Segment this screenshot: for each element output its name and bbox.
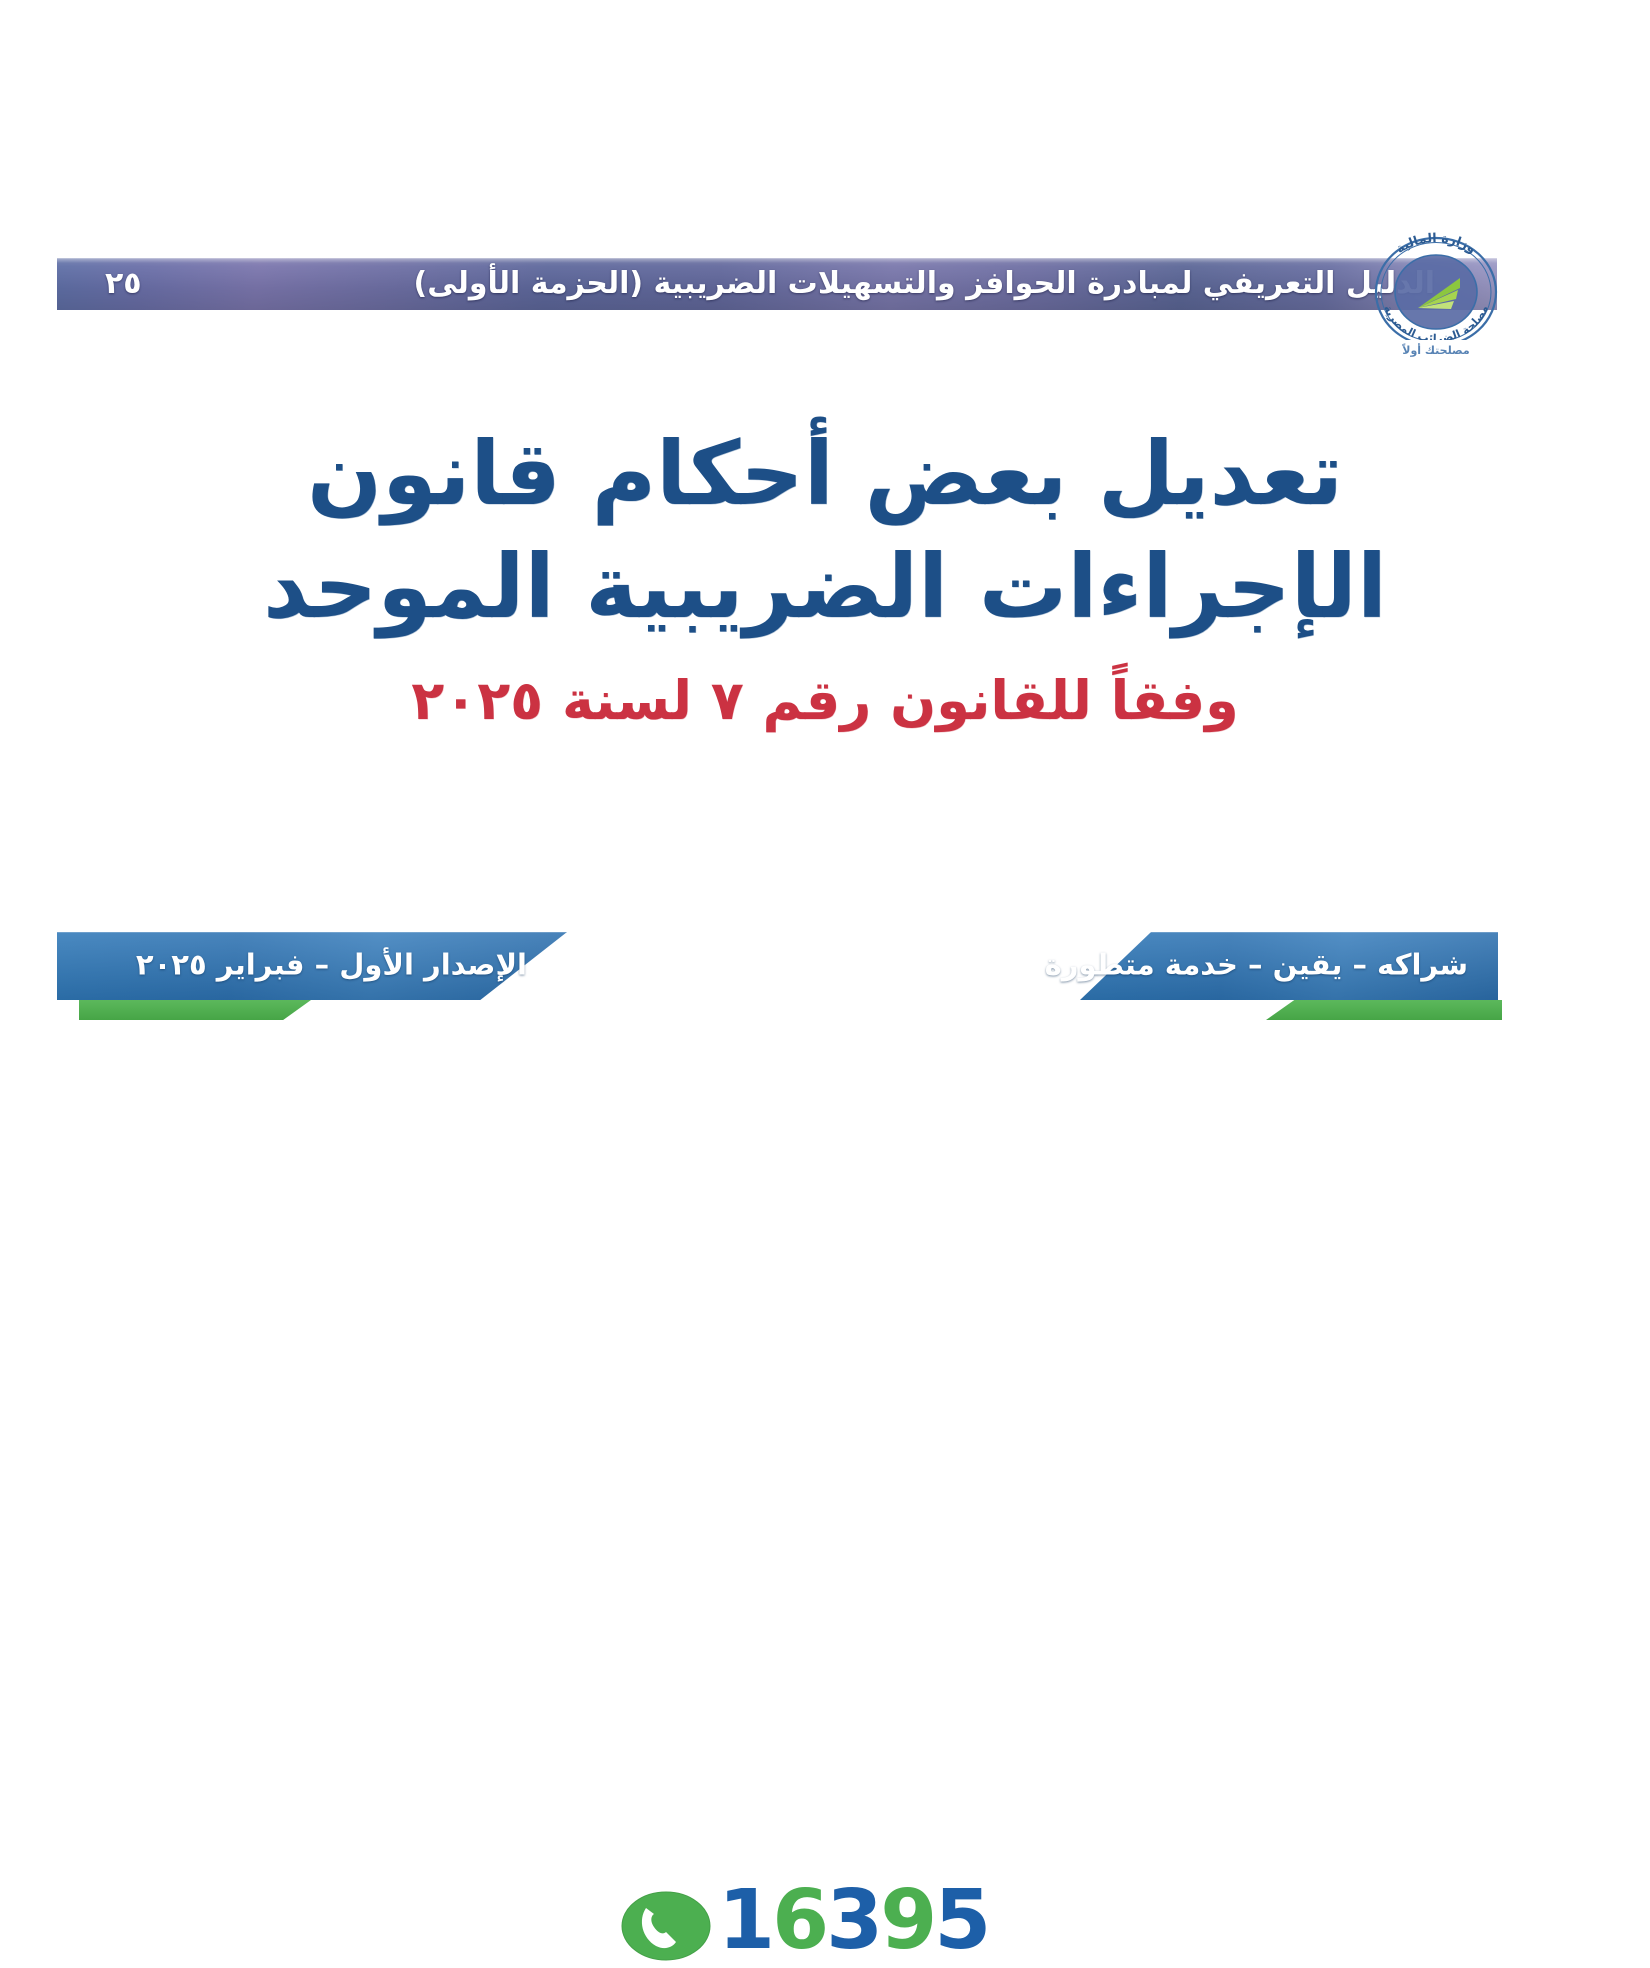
- slogan-banner: شراكه – يقين – خدمة متطورة: [1080, 932, 1498, 1000]
- slogan-banner-label: شراكه – يقين – خدمة متطورة: [1045, 948, 1468, 982]
- hotline-number: 16395: [718, 1880, 988, 1962]
- document-page: الدليل التعريفي لمبادرة الحوافز والتسهيل…: [0, 0, 1650, 1275]
- main-title-line-1: تعديل بعض أحكام قانون: [0, 418, 1650, 531]
- title-block: تعديل بعض أحكام قانون الإجراءات الضريبية…: [0, 418, 1650, 732]
- hotline-logo: 16395: [620, 1878, 988, 1964]
- hotline-digit-4: 5: [934, 1880, 988, 1962]
- footer-zone: الإصدار الأول – فبراير ٢٠٢٥ شراكه – يقين…: [0, 932, 1650, 1062]
- edition-banner: الإصدار الأول – فبراير ٢٠٢٥: [57, 932, 567, 1000]
- eta-logo: وزارة المالية مصلحة الضرائب المصرية مصلح…: [1356, 232, 1516, 357]
- edition-banner-accent: [79, 1000, 311, 1020]
- main-subtitle: وفقاً للقانون رقم ٧ لسنة ٢٠٢٥: [0, 669, 1650, 732]
- eta-logo-icon: وزارة المالية مصلحة الضرائب المصرية: [1356, 232, 1516, 340]
- header-title: الدليل التعريفي لمبادرة الحوافز والتسهيل…: [414, 266, 1435, 301]
- edition-banner-label: الإصدار الأول – فبراير ٢٠٢٥: [136, 948, 527, 982]
- svg-text:وزارة المالية: وزارة المالية: [1393, 232, 1479, 256]
- logo-tagline: مصلحتك أولاً: [1356, 344, 1516, 357]
- header-banner: الدليل التعريفي لمبادرة الحوافز والتسهيل…: [57, 258, 1497, 310]
- hotline-digit-3: 9: [880, 1880, 934, 1962]
- page-number: ٢٥: [105, 266, 142, 301]
- slogan-banner-accent: [1266, 1000, 1502, 1020]
- hotline-digit-2: 3: [826, 1880, 880, 1962]
- phone-icon: [620, 1880, 712, 1962]
- hotline-digit-1: 6: [772, 1880, 826, 1962]
- hotline-digit-0: 1: [718, 1880, 772, 1962]
- main-title-line-2: الإجراءات الضريبية الموحد: [0, 531, 1650, 644]
